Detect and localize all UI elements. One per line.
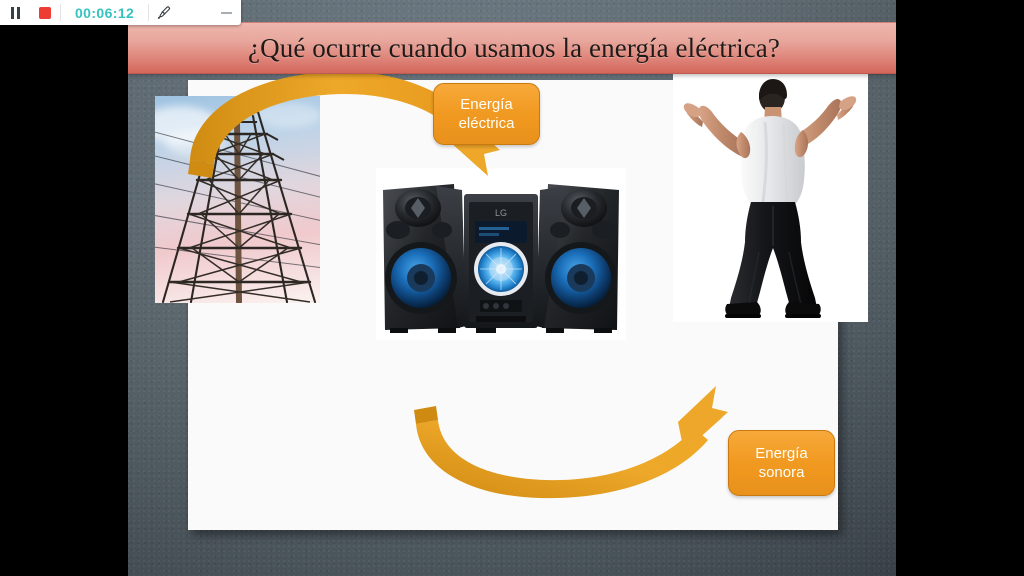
stop-icon: [39, 7, 51, 19]
pause-icon: [11, 7, 20, 19]
dancer-graphic: [673, 52, 868, 322]
annotate-button[interactable]: [149, 0, 179, 25]
label-line-1: Energía: [755, 444, 808, 464]
screen-recorder-toolbar[interactable]: 00:06:12: [0, 0, 241, 25]
recording-timer: 00:06:12: [61, 5, 148, 21]
slide-title-banner: ¿Qué ocurre cuando usamos la energía elé…: [128, 22, 896, 74]
recorder-transport-group: [0, 0, 60, 25]
tower-lattice-graphic: [155, 96, 320, 303]
dancing-man-photo: [673, 52, 868, 322]
stereo-system-photo: LG: [376, 168, 626, 340]
video-stage: LG: [0, 0, 1024, 576]
pause-button[interactable]: [0, 0, 30, 25]
page-title: ¿Qué ocurre cuando usamos la energía elé…: [248, 33, 780, 64]
label-energia-electrica[interactable]: Energía eléctrica: [433, 83, 540, 145]
label-energia-sonora[interactable]: Energía sonora: [728, 430, 835, 496]
label-line-2: eléctrica: [459, 114, 515, 134]
minimize-icon: [221, 12, 232, 14]
svg-text:LG: LG: [495, 208, 507, 218]
paintbrush-icon: [156, 5, 172, 21]
transmission-tower-photo: [155, 96, 320, 303]
label-line-1: Energía: [460, 95, 513, 115]
slide-viewport: LG: [128, 0, 896, 576]
stop-button[interactable]: [30, 0, 60, 25]
label-line-2: sonora: [759, 463, 805, 483]
stereo-graphic: LG: [376, 168, 626, 340]
minimize-button[interactable]: [211, 0, 241, 25]
